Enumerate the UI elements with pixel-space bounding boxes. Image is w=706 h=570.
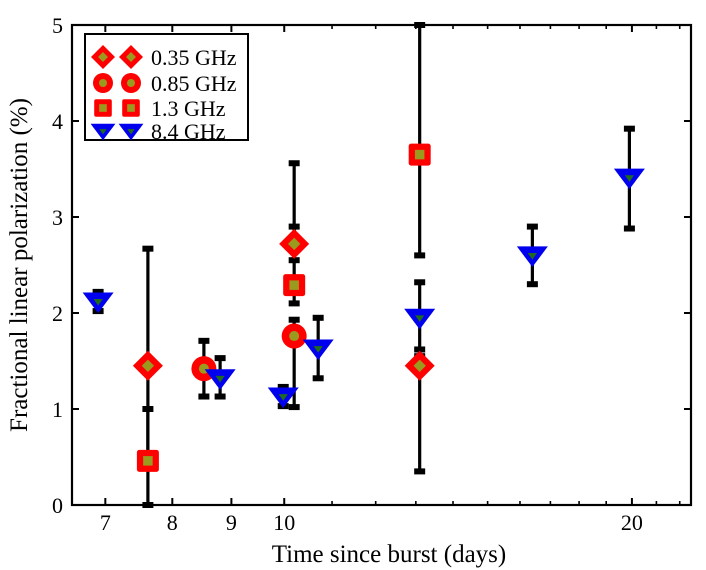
errorbar-cap-bottom [198,394,209,400]
y-tick-label: 5 [52,13,63,38]
y-tick-label: 3 [52,205,63,230]
data-point-marker-square [94,99,112,117]
y-tick-label: 1 [52,397,63,422]
errorbar-cap-top [527,224,538,230]
errorbar-cap-top [142,406,153,412]
x-tick-label: 20 [621,510,643,535]
legend-label: 0.85 GHz [151,71,237,96]
legend-label: 0.35 GHz [151,45,237,70]
errorbar-cap-bottom [289,404,300,410]
x-tick-label: 10 [273,510,295,535]
data-point-marker-circle [93,73,113,93]
data-point-marker-circle [121,73,141,93]
errorbar-cap-top [414,279,425,285]
y-axis-title: Fractional linear polarization (%) [6,98,33,432]
figure-container: 7891020012345 Time since burst (days) Fr… [0,0,706,570]
polarization-scatter-plot: 7891020012345 Time since burst (days) Fr… [0,0,706,570]
data-point-marker-circle [282,324,307,349]
y-tick-label: 2 [52,301,63,326]
errorbar-cap-bottom [414,468,425,474]
errorbar-cap-top [142,246,153,252]
errorbar-cap-bottom [527,281,538,287]
errorbar-cap-bottom [624,226,635,232]
y-tick-label: 0 [52,493,63,518]
errorbar-cap-bottom [313,375,324,381]
data-point-marker-square [122,99,140,117]
errorbar-cap-top [198,338,209,344]
data-point-marker-square [137,450,159,472]
legend-label: 1.3 GHz [151,96,226,121]
errorbar-cap-top [313,315,324,321]
errorbar-cap-top [289,317,300,323]
x-axis-title: Time since burst (days) [272,541,506,568]
errorbar-cap-top [624,126,635,132]
errorbar-cap-bottom [289,300,300,306]
errorbar-cap-bottom [215,394,226,400]
errorbar-cap-top [289,160,300,166]
x-tick-label: 8 [167,510,178,535]
errorbar-cap-bottom [414,252,425,258]
errorbar-cap-top [215,355,226,361]
legend-box[interactable]: 0.35 GHz0.85 GHz1.3 GHz8.4 GHz [85,34,248,144]
x-tick-label: 7 [100,510,111,535]
data-point-marker-square [283,274,305,296]
data-point-marker-square [409,144,431,166]
y-tick-label: 4 [52,109,63,134]
legend-label: 8.4 GHz [151,119,226,144]
x-tick-label: 9 [226,510,237,535]
